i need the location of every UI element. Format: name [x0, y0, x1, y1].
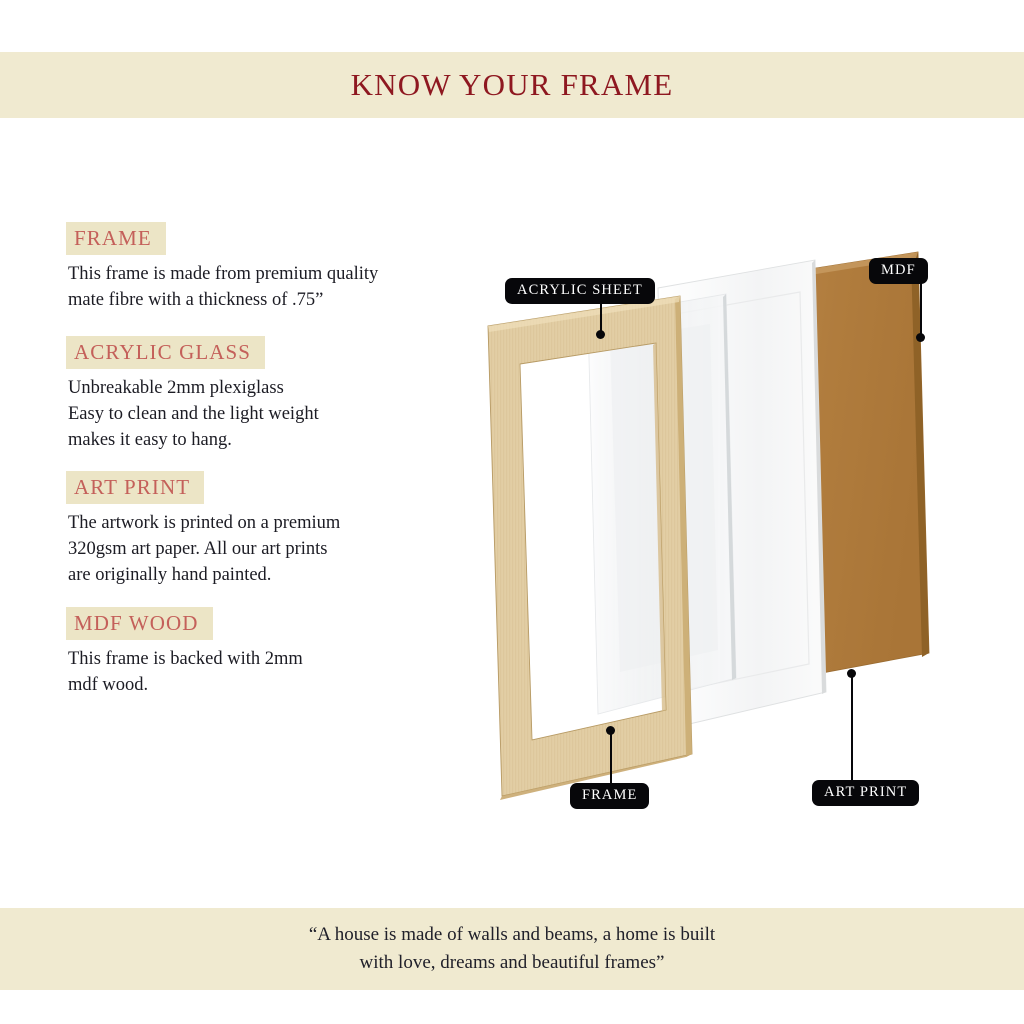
leader-dot-mdf [916, 333, 925, 342]
infographic-page: KNOW YOUR FRAME FRAME This frame is made… [0, 0, 1024, 1024]
section-heading-mdf-wood: MDF WOOD [66, 607, 213, 640]
leader-dot-art-print [847, 669, 856, 678]
callout-frame[interactable]: FRAME [570, 783, 649, 809]
section-body-art-print: The artwork is printed on a premium 320g… [66, 510, 476, 589]
leader-dot-frame [606, 726, 615, 735]
section-body-mdf-wood: This frame is backed with 2mm mdf wood. [66, 646, 476, 699]
info-section-mdf-wood: MDF WOOD This frame is backed with 2mm m… [66, 607, 476, 699]
info-section-acrylic-glass: ACRYLIC GLASS Unbreakable 2mm plexiglass… [66, 336, 476, 454]
page-title: KNOW YOUR FRAME [351, 67, 674, 103]
section-body-acrylic-glass: Unbreakable 2mm plexiglass Easy to clean… [66, 375, 476, 454]
callout-art-print[interactable]: ART PRINT [812, 780, 919, 806]
info-section-art-print: ART PRINT The artwork is printed on a pr… [66, 471, 476, 589]
exploded-frame-diagram [470, 240, 970, 830]
info-section-frame: FRAME This frame is made from premium qu… [66, 222, 476, 314]
leader-line-frame [610, 732, 612, 783]
section-heading-acrylic-glass: ACRYLIC GLASS [66, 336, 265, 369]
callout-acrylic-sheet[interactable]: ACRYLIC SHEET [505, 278, 655, 304]
section-body-frame: This frame is made from premium quality … [66, 261, 476, 314]
footer-band: “A house is made of walls and beams, a h… [0, 908, 1024, 990]
callout-mdf[interactable]: MDF [869, 258, 928, 284]
leader-line-art-print [851, 676, 853, 780]
header-band: KNOW YOUR FRAME [0, 52, 1024, 118]
section-heading-frame: FRAME [66, 222, 166, 255]
leader-dot-acrylic-sheet [596, 330, 605, 339]
info-column: FRAME This frame is made from premium qu… [66, 222, 476, 715]
footer-quote: “A house is made of walls and beams, a h… [309, 921, 715, 976]
leader-line-mdf [920, 282, 922, 337]
section-heading-art-print: ART PRINT [66, 471, 204, 504]
